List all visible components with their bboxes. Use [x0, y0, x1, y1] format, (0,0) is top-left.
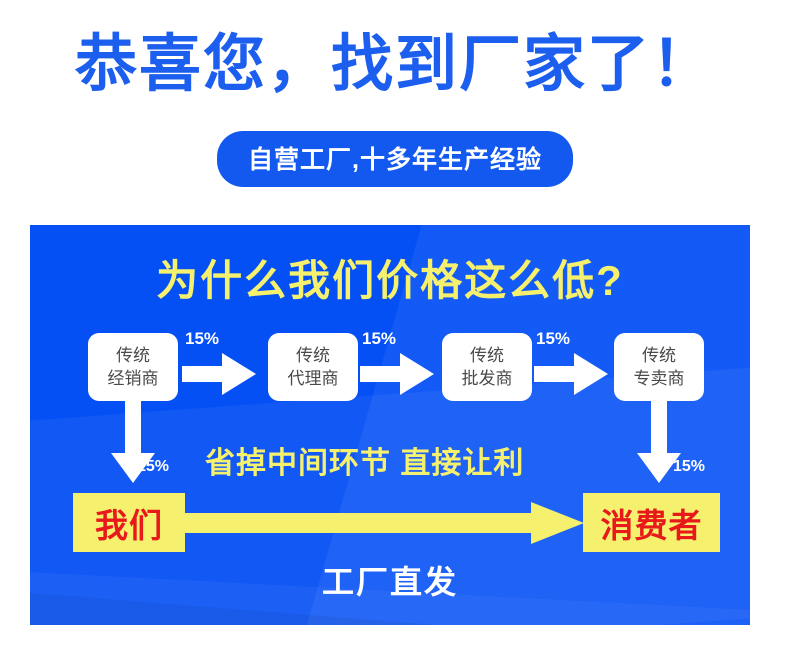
chain-box-agent-line1: 传统	[296, 344, 330, 367]
main-title: 恭喜您，找到厂家了！	[0, 22, 790, 108]
subtitle-pill: 自营工厂,十多年生产经验	[217, 131, 573, 187]
right-arrow-icon-1	[182, 353, 256, 395]
right-arrow-icon-2	[360, 353, 434, 395]
arrow-shaft	[125, 401, 141, 457]
chain-box-retailer: 传统 专卖商	[614, 333, 704, 401]
markup-label-1: 15%	[185, 329, 219, 349]
chain-box-retailer-line2: 专卖商	[634, 367, 685, 390]
direct-supply-arrow-icon	[182, 502, 584, 544]
markup-label-down-right: 15%	[673, 458, 705, 476]
we-box: 我们	[73, 493, 185, 552]
arrow-head	[222, 353, 256, 395]
chain-box-dealer-line2: 经销商	[108, 367, 159, 390]
chain-box-wholesaler-line2: 批发商	[462, 367, 513, 390]
chain-box-agent-line2: 代理商	[288, 367, 339, 390]
arrow-head	[574, 353, 608, 395]
arrow-head	[400, 353, 434, 395]
chain-box-wholesaler-line1: 传统	[470, 344, 504, 367]
arrow-shaft	[182, 513, 537, 533]
chain-box-agent: 传统 代理商	[268, 333, 358, 401]
right-arrow-icon-3	[534, 353, 608, 395]
bottom-slogan: 工厂直发	[30, 557, 750, 603]
markup-label-2: 15%	[362, 329, 396, 349]
arrow-shaft	[360, 366, 404, 382]
arrow-shaft	[651, 401, 667, 457]
arrow-shaft	[534, 366, 578, 382]
chain-box-wholesaler: 传统 批发商	[442, 333, 532, 401]
chain-box-dealer: 传统 经销商	[88, 333, 178, 401]
panel-title: 为什么我们价格这么低?	[30, 247, 750, 308]
consumer-box: 消费者	[583, 493, 720, 552]
markup-label-3: 15%	[536, 329, 570, 349]
middle-slogan: 省掉中间环节 直接让利	[205, 438, 524, 482]
header-section: 恭喜您，找到厂家了！ 自营工厂,十多年生产经验	[0, 0, 790, 215]
arrow-shaft	[182, 366, 226, 382]
markup-label-down-left: 15%	[137, 458, 169, 476]
promo-panel: 为什么我们价格这么低? 传统 经销商 传统 代理商 传统 批发商 传统 专卖商 …	[30, 225, 750, 625]
chain-box-retailer-line1: 传统	[642, 344, 676, 367]
arrow-head	[531, 502, 584, 544]
chain-box-dealer-line1: 传统	[116, 344, 150, 367]
